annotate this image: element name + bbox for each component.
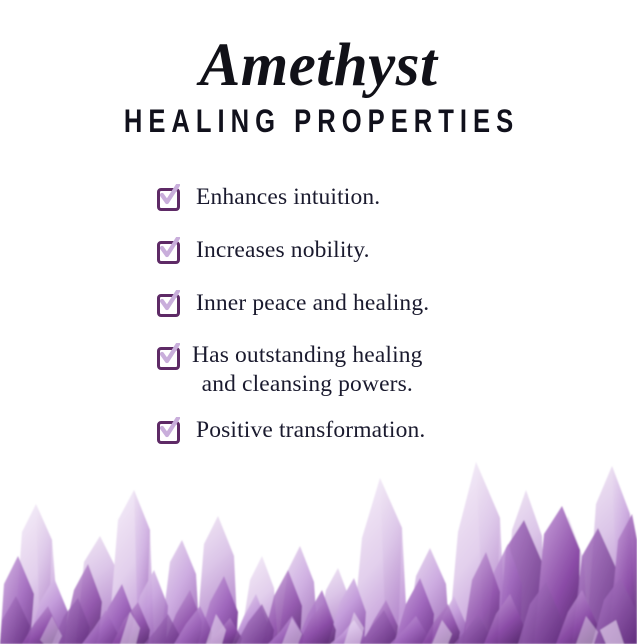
header-block: Amethyst HEALING PROPERTIES (0, 34, 637, 138)
checked-checkbox-icon (156, 292, 179, 315)
checkmark-icon (160, 290, 180, 312)
list-item: Inner peace and healing. (156, 288, 576, 318)
healing-properties-list: Enhances intuition. Increases nobility. (156, 182, 576, 468)
list-item-label: Has outstanding healing and cleansing po… (192, 341, 423, 399)
checkmark-icon (160, 237, 180, 259)
checkmark-icon (160, 184, 180, 206)
list-item-label: Increases nobility. (196, 235, 370, 265)
list-item: Positive transformation. (156, 415, 576, 445)
page-subtitle: HEALING PROPERTIES (64, 104, 574, 138)
poster-canvas: Amethyst HEALING PROPERTIES Enhances int… (0, 0, 637, 644)
list-item-label: Enhances intuition. (196, 182, 380, 212)
list-item: Has outstanding healing and cleansing po… (156, 341, 576, 399)
checkmark-icon (160, 343, 180, 365)
page-title: Amethyst (0, 34, 637, 98)
list-item: Increases nobility. (156, 235, 576, 265)
checked-checkbox-icon (156, 419, 179, 442)
checked-checkbox-icon (156, 186, 179, 209)
checked-checkbox-icon (156, 345, 179, 368)
amethyst-crystal-cluster-image (0, 444, 637, 644)
checkmark-icon (160, 417, 180, 439)
checked-checkbox-icon (156, 239, 179, 262)
list-item: Enhances intuition. (156, 182, 576, 212)
list-item-label: Positive transformation. (196, 415, 425, 445)
list-item-label: Inner peace and healing. (196, 288, 429, 318)
